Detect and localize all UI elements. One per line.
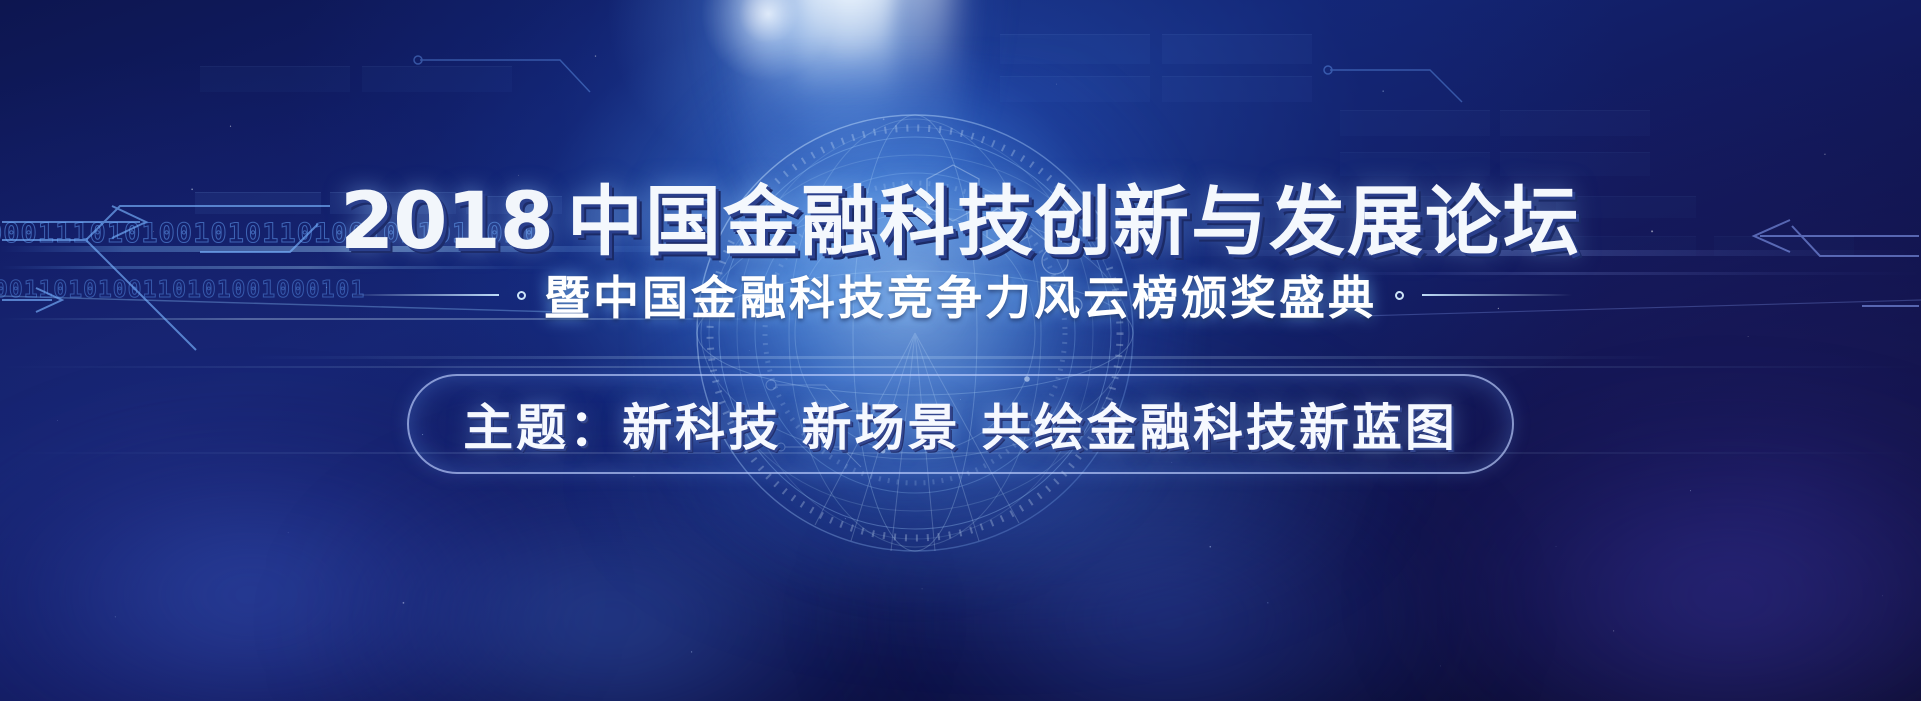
title-year: 2018 [340,177,553,267]
subtitle-rule-left [349,294,499,296]
subtitle-rule-right [1422,294,1572,296]
theme-pill: 主题：新科技 新场景 共绘金融科技新蓝图 [407,374,1514,474]
banner-title: 2018中国金融科技创新与发展论坛 [0,160,1921,270]
banner-content: 2018中国金融科技创新与发展论坛 暨中国金融科技竞争力风云榜颁奖盛典 主题：新… [0,0,1921,701]
subtitle-dot-right [1395,291,1404,300]
banner-theme: 主题：新科技 新场景 共绘金融科技新蓝图 [463,388,1458,460]
subtitle-dot-left [517,291,526,300]
title-main-text: 中国金融科技创新与发展论坛 [567,177,1581,266]
conference-banner: 00011101010010101101001011010010 0011010… [0,0,1921,701]
banner-theme-row: 主题：新科技 新场景 共绘金融科技新蓝图 [0,374,1921,474]
banner-subtitle-row: 暨中国金融科技竞争力风云榜颁奖盛典 [0,262,1921,328]
banner-subtitle: 暨中国金融科技竞争力风云榜颁奖盛典 [544,262,1377,328]
